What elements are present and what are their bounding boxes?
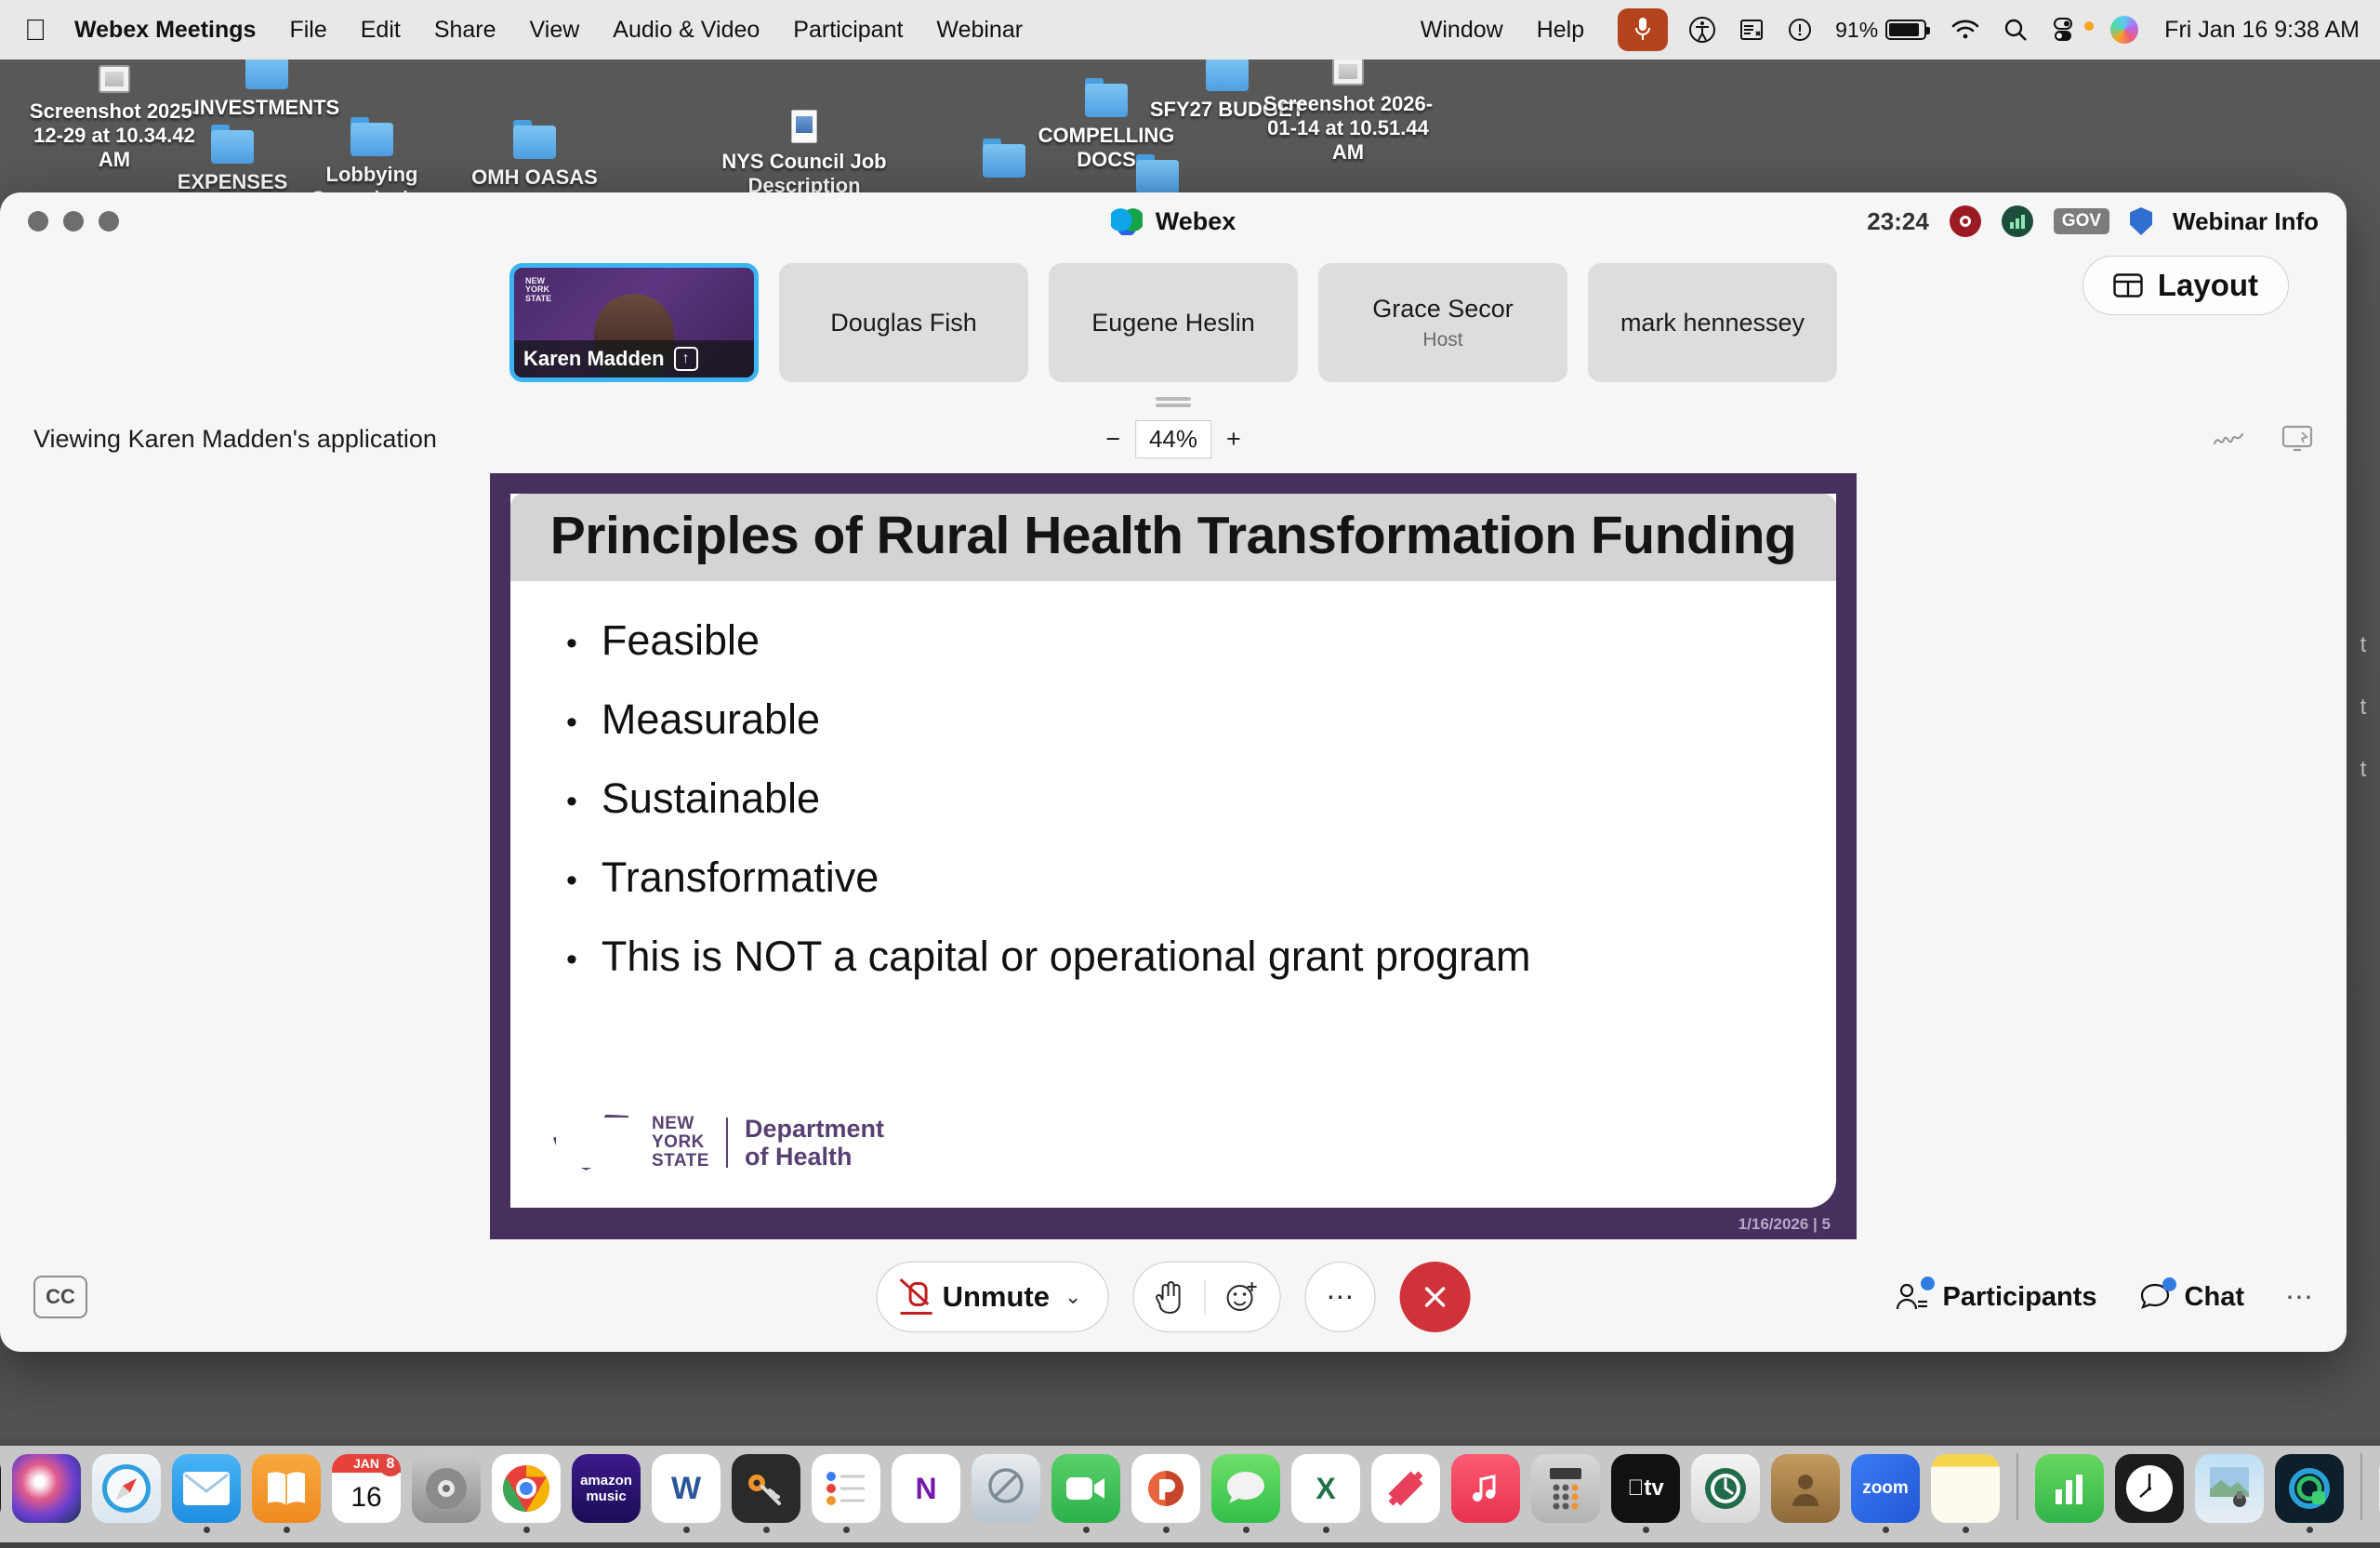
layout-button[interactable]: Layout [2082,256,2289,315]
macos-menu-bar:  Webex MeetingsFileEditShareViewAudio &… [0,0,2380,60]
dock-running-indicator [1243,1527,1249,1533]
window-traffic-lights[interactable] [28,211,119,232]
dock-running-indicator [1643,1527,1649,1533]
shield-icon [2130,207,2152,235]
participants-label: Participants [1943,1282,2097,1313]
participants-button[interactable]: Participants [1895,1280,2097,1314]
end-meeting-button[interactable] [1399,1262,1470,1332]
bullet-dot-icon: • [566,628,577,659]
document-file-icon [791,110,817,143]
desktop-icon-label: Screenshot 2026-01-14 at 10.51.44 AM [1250,92,1446,165]
participant-tile-karen-madden[interactable]: NEWYORKSTATEKaren Madden↑ [509,263,759,382]
panel-toggles-group: Participants Chat ⋯ [1895,1280,2313,1314]
edge-strip-text: t [2347,676,2380,738]
participant-name: Douglas Fish [830,309,977,337]
participant-name: mark hennessey [1620,309,1805,337]
edge-strip-text: t [2347,614,2380,676]
layout-grid-icon [2113,273,2143,298]
viewing-status-label: Viewing Karen Madden's application [33,425,437,454]
onenote-icon: N [892,1454,960,1523]
menu-item-share[interactable]: Share [434,17,496,44]
system-settings-icon [412,1454,481,1523]
meeting-control-bar: CC Unmute ⌄ [0,1242,2347,1352]
raise-hand-icon[interactable] [1154,1279,1185,1315]
panel-resize-grabber[interactable] [1156,397,1191,401]
powerpoint-icon [1131,1454,1200,1523]
webinar-info-button[interactable]: Webinar Info [2173,207,2319,236]
folder-icon [1136,160,1179,193]
reactions-group [1132,1262,1280,1332]
tile-name-bar: Karen Madden↑ [514,340,754,377]
dock-item-launchpad[interactable] [0,1454,3,1533]
macos-dock: JAN168amazonmusicWNXtvzoom [0,1446,2380,1542]
dock-running-indicator [923,1527,930,1533]
dock-running-indicator [1003,1527,1010,1533]
closed-captions-button[interactable]: CC [33,1276,87,1318]
dock-running-indicator [2147,1527,2153,1533]
dock-item-facetime[interactable] [1050,1454,1122,1533]
nys-doh-logo: NEW YORK STATE Department of Health [553,1115,884,1171]
edge-icon [2275,1454,2344,1523]
menu-item-edit[interactable]: Edit [361,17,401,44]
dock-item-preview[interactable] [2193,1454,2266,1533]
dock-item-excel[interactable]: X [1289,1454,1362,1533]
search-icon[interactable] [2003,17,2029,43]
contacts-icon [1771,1454,1840,1523]
calendar-badge: 8 [378,1454,401,1476]
network-quality-icon[interactable] [2002,205,2033,237]
clock-icon [2115,1454,2184,1523]
dock-item-amazon-music[interactable]: amazonmusic [570,1454,642,1533]
dock-item-appletv[interactable]: tv [1609,1454,1682,1533]
dock-running-indicator [1803,1527,1809,1533]
logo-divider [726,1118,728,1168]
dock-item-chrome[interactable] [490,1454,562,1533]
menu-item-view[interactable]: View [530,17,580,44]
screen-share-indicator-icon: ↑ [674,347,698,371]
dock-item-news[interactable] [1369,1454,1442,1533]
menu-item-participant[interactable]: Participant [793,17,903,44]
excel-icon: X [1291,1454,1360,1523]
messages-icon [1211,1454,1280,1523]
desktop-icon-label: INVESTMENTS [194,96,339,120]
menu-item-webinar[interactable]: Webinar [936,17,1023,44]
slide-bullet-list: •Feasible•Measurable•Sustainable•Transfo… [510,581,1836,981]
dock-running-indicator [2307,1527,2313,1533]
dock-item-books[interactable] [250,1454,323,1533]
mail-icon [172,1454,241,1523]
control-center-active-dot [2084,21,2094,31]
zoom-in-button[interactable]: + [1226,425,1241,454]
sharing-status-row: Viewing Karen Madden's application − 44%… [0,412,2347,466]
microphone-icon[interactable] [1618,8,1668,51]
desktop-icon-investments[interactable]: INVESTMENTS [169,56,364,120]
launchpad-icon [0,1454,1,1523]
numbers-icon [2035,1454,2104,1523]
zoom-icon: zoom [1851,1454,1920,1523]
slide-footer: 1/16/2026 | 5 [1739,1215,1831,1234]
wifi-icon[interactable] [1950,19,1980,41]
dock-running-indicator [364,1527,370,1533]
dock-item-safari[interactable] [90,1454,163,1533]
chat-notification-dot [2162,1277,2176,1291]
dock-item-onenote[interactable]: N [890,1454,962,1533]
menu-item-audio-video[interactable]: Audio & Video [613,17,760,44]
dock-item-timemachine[interactable] [1689,1454,1762,1533]
dock-running-indicator [1563,1527,1569,1533]
slide-bullet: •Measurable [566,695,1836,744]
bullet-text: Measurable [602,695,820,744]
apple-logo-icon[interactable]:  [24,15,46,45]
dock-running-indicator [603,1527,610,1533]
bullet-dot-icon: • [566,944,577,975]
news-icon [1371,1454,1440,1523]
chat-button[interactable]: Chat [2138,1281,2244,1313]
mute-toggle-button[interactable]: Unmute ⌄ [877,1262,1109,1332]
participant-tile-grace-secor[interactable]: Grace SecorHost [1318,263,1567,382]
dock-divider [2016,1453,2018,1520]
dock-running-indicator [1723,1527,1729,1533]
slide-title-band: Principles of Rural Health Transformatio… [510,494,1836,581]
nys-logo-text: NEW YORK STATE [652,1115,709,1171]
desktop-icon-screenshot-2026-01-14-at-10-51-44-am[interactable]: Screenshot 2026-01-14 at 10.51.44 AM [1250,58,1446,165]
participant-tiles-row: NEWYORKSTATEKaren Madden↑Douglas FishEug… [0,263,2347,382]
screenshot-file-icon [99,65,130,93]
reminders-icon [812,1454,880,1523]
screen-record-icon[interactable] [1739,17,1765,43]
bullet-text: Sustainable [602,774,820,823]
zoom-level-value[interactable]: 44% [1135,420,1211,458]
slide-bullet: •Sustainable [566,774,1836,823]
dock-item-webex[interactable] [970,1454,1042,1533]
music-icon [1451,1454,1520,1523]
menu-item-file[interactable]: File [289,17,326,44]
new-york-state-map-icon [553,1115,635,1171]
remote-screen-icon[interactable] [2281,425,2313,453]
recording-icon[interactable] [1950,205,1981,237]
safari-icon [92,1454,161,1523]
calculator-icon [1531,1454,1600,1523]
participant-tile-mark-hennessey[interactable]: mark hennessey [1588,263,1837,382]
dock-item-siri[interactable] [10,1454,83,1533]
close-window-button[interactable] [28,211,48,232]
dock-item-contacts[interactable] [1769,1454,1842,1533]
dock-item-system-settings[interactable] [410,1454,483,1533]
dock-item-powerpoint[interactable] [1130,1454,1202,1533]
siri-icon [12,1454,81,1523]
folder-icon [245,56,288,89]
bullet-text: This is NOT a capital or operational gra… [602,933,1531,981]
participant-name: Eugene Heslin [1091,309,1255,337]
accessibility-icon[interactable] [1688,16,1716,44]
folder-icon [350,123,393,156]
desktop-icon-label: EXPENSES [178,170,288,194]
chat-label: Chat [2185,1282,2244,1313]
siri-icon[interactable] [2110,16,2138,44]
shared-slide-frame[interactable]: Principles of Rural Health Transformatio… [490,473,1857,1239]
dock-running-indicator [2067,1527,2073,1533]
bullet-dot-icon: • [566,865,577,896]
dock-running-indicator [1883,1527,1889,1533]
bullet-text: Transformative [602,853,879,902]
more-options-button[interactable]: ⋯ [1304,1262,1375,1332]
bullet-dot-icon: • [566,786,577,817]
dock-item-keychain[interactable] [730,1454,802,1533]
menu-item-webex-meetings[interactable]: Webex Meetings [74,17,256,44]
dock-item-word[interactable]: W [650,1454,722,1533]
participant-name: Grace Secor [1372,295,1514,324]
primary-controls-group: Unmute ⌄ ⋯ [877,1262,1471,1332]
dock-running-indicator [204,1527,210,1533]
dock-running-indicator [763,1527,770,1533]
chrome-icon [492,1454,561,1523]
timemachine-icon [1691,1454,1760,1523]
word-icon: W [652,1454,721,1523]
participant-tile-douglas-fish[interactable]: Douglas Fish [779,263,1028,382]
battery-status[interactable]: 91% [1835,18,1926,43]
menu-item-window[interactable]: Window [1421,17,1503,44]
webex-window-title: Webex [1156,207,1236,236]
maximize-window-button[interactable] [99,211,119,232]
preview-icon [2195,1454,2264,1523]
dock-item-calendar[interactable]: JAN168 [330,1454,403,1533]
dock-running-indicator [443,1527,450,1533]
dock-item-edge[interactable] [2273,1454,2346,1533]
webex-meeting-window: Webex 23:24 GOV Webinar Info NEWYORKSTAT… [0,192,2347,1352]
reaction-smiley-icon[interactable] [1223,1279,1259,1315]
desktop-icon-nys-council-job-description[interactable]: NYS Council Job Description [707,110,902,198]
folder-icon [211,130,254,164]
calendar-day: 16 [332,1473,401,1523]
dock-item-zoom[interactable]: zoom [1849,1454,1922,1533]
control-divider [1204,1279,1205,1315]
dock-item-reminders[interactable] [810,1454,882,1533]
more-panels-button[interactable]: ⋯ [2285,1281,2313,1314]
battery-percent-label: 91% [1835,18,1878,43]
participant-tile-eugene-heslin[interactable]: Eugene Heslin [1049,263,1298,382]
alert-icon[interactable] [1787,17,1813,43]
edge-strip-text: t [2347,738,2380,800]
dock-item-numbers[interactable] [2033,1454,2106,1533]
dock-item-messages[interactable] [1210,1454,1282,1533]
notes-icon [1931,1454,2000,1523]
menu-item-help[interactable]: Help [1537,17,1584,44]
dock-running-indicator [124,1527,130,1533]
menu-clock[interactable]: Fri Jan 16 9:38 AM [2164,17,2360,44]
dock-running-indicator [284,1527,290,1533]
webex-status-group: 23:24 GOV Webinar Info [1867,205,2319,237]
participants-notification-dot [1921,1277,1935,1290]
dock-running-indicator [523,1527,530,1533]
dock-running-indicator [1083,1527,1090,1533]
dock-item-calculator[interactable] [1529,1454,1602,1533]
dock-running-indicator [1323,1527,1329,1533]
dock-running-indicator [1963,1527,1969,1533]
bullet-dot-icon: • [566,707,577,738]
webex-icon [972,1454,1040,1523]
annotate-icon[interactable] [2213,427,2244,451]
dock-running-indicator [1163,1527,1170,1533]
folder-icon [1206,58,1249,91]
dock-running-indicator [843,1527,850,1533]
participant-role: Host [1422,329,1462,351]
slide-bullet: •This is NOT a capital or operational gr… [566,933,1836,981]
department-of-health-text: Department of Health [745,1115,884,1171]
layout-button-label: Layout [2158,268,2258,303]
folder-icon [1085,84,1128,117]
webex-logo-icon [1111,207,1143,235]
bullet-text: Feasible [602,616,760,665]
amazon-music-icon: amazonmusic [572,1454,641,1523]
dock-running-indicator [683,1527,690,1533]
dock-running-indicator [1483,1527,1489,1533]
dock-running-indicator [44,1527,50,1533]
slide-title: Principles of Rural Health Transformatio… [536,505,1810,566]
dock-item-music[interactable] [1449,1454,1522,1533]
edge-chat-strip: ttt [2347,614,2380,801]
chevron-down-icon[interactable]: ⌄ [1064,1285,1081,1309]
dock-item-mail[interactable] [170,1454,243,1533]
mic-muted-icon [904,1280,928,1314]
dock-divider [2360,1453,2362,1520]
webex-titlebar: Webex 23:24 GOV Webinar Info [0,192,2347,250]
zoom-controls: − 44% + [1105,420,1241,458]
appletv-icon: tv [1611,1454,1680,1523]
dock-running-indicator [2227,1527,2233,1533]
dock-item-clock[interactable] [2113,1454,2186,1533]
zoom-out-button[interactable]: − [1105,425,1120,454]
slide-canvas: Principles of Rural Health Transformatio… [510,494,1836,1208]
mute-toggle-label: Unmute [943,1280,1050,1314]
end-meeting-x-icon [1418,1280,1451,1314]
meeting-timer: 23:24 [1867,207,1929,236]
dock-running-indicator [1403,1527,1409,1533]
screenshot-file-icon [1332,58,1364,86]
participant-name: Karen Madden [523,347,665,371]
slide-bullet: •Feasible [566,616,1836,665]
slide-bullet: •Transformative [566,853,1836,902]
minimize-window-button[interactable] [63,211,84,232]
share-tools-group [2213,425,2313,453]
tile-org-logo: NEWYORKSTATE [525,277,551,303]
books-icon [252,1454,321,1523]
desktop-icon-label: NYS Council Job Description [707,150,902,198]
calendar-icon: JAN168 [332,1454,401,1523]
dock-item-notes[interactable] [1929,1454,2002,1533]
gov-badge: GOV [2054,208,2109,234]
control-center-icon[interactable] [2051,17,2075,43]
folder-icon [513,126,556,159]
facetime-icon [1051,1454,1120,1523]
keychain-icon [732,1454,800,1523]
